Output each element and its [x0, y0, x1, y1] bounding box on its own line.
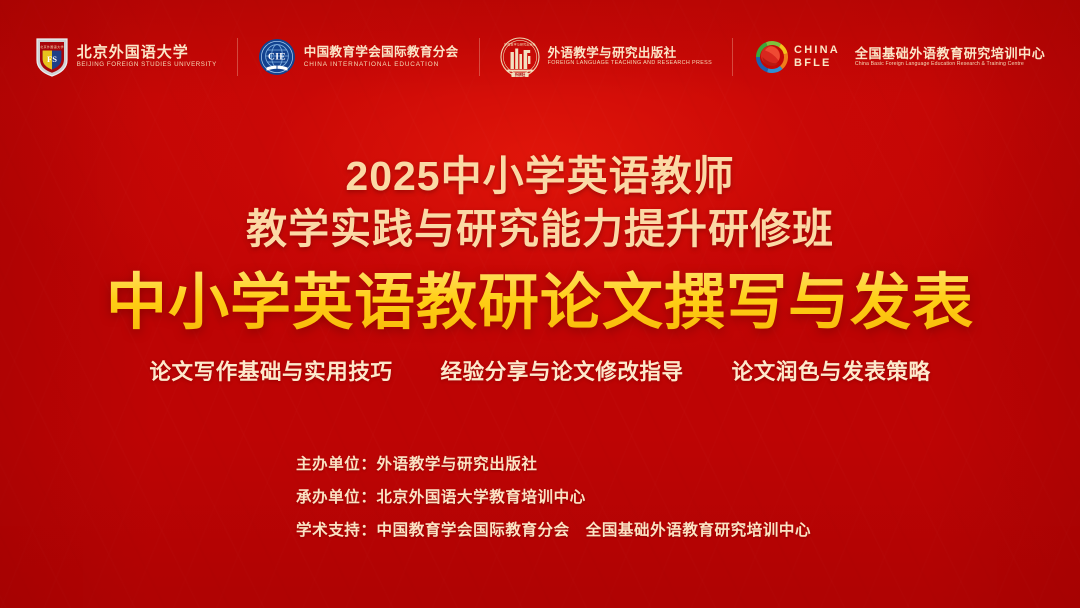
- logo-cie: CIE 中国教育学会国际教育分会 CHINA INTERNATIONAL EDU…: [238, 32, 479, 82]
- organizer-credits: 主办单位：外语教学与研究出版社 承办单位：北京外国语大学教育培训中心 学术支持：…: [296, 452, 811, 540]
- credit-row-academic-support: 学术支持：中国教育学会国际教育分会全国基础外语教育研究培训中心: [296, 518, 811, 540]
- svg-text:外语教学与研究出版社: 外语教学与研究出版社: [504, 41, 536, 46]
- conference-poster: FS 北京外国语大学 北京外国语大学 BEIJING FOREIGN STUDI…: [0, 0, 1080, 608]
- poster-title-block: 2025中小学英语教师 教学实践与研究能力提升研修班 中小学英语教研论文撰写与发…: [0, 150, 1080, 338]
- logo-bfle-abbr: CHINA BFLE: [794, 44, 840, 70]
- logo-bfsu: FS 北京外国语大学 北京外国语大学 BEIJING FOREIGN STUDI…: [15, 32, 237, 82]
- credit-row-host: 承办单位：北京外国语大学教育培训中心: [296, 485, 811, 507]
- topic-list: 论文写作基础与实用技巧 经验分享与论文修改指导 论文润色与发表策略: [0, 355, 1080, 386]
- svg-text:FS: FS: [47, 54, 57, 64]
- credit-value-academic-support-extra: 全国基础外语教育研究培训中心: [586, 522, 811, 539]
- credit-label-host: 承办单位：: [296, 489, 377, 506]
- logo-bfsu-text: 北京外国语大学 BEIJING FOREIGN STUDIES UNIVERSI…: [77, 45, 217, 69]
- logo-fltrp: 外语教学与研究出版社 外研社 外语教学与研究出版社 FOREIGN LANGUA…: [480, 32, 732, 82]
- title-line-1: 2025中小学英语教师: [0, 150, 1080, 202]
- svg-text:外研社: 外研社: [514, 72, 525, 77]
- logo-cie-name-cn: 中国教育学会国际教育分会: [304, 46, 459, 59]
- svg-text:CIE: CIE: [268, 53, 286, 63]
- logo-bfle-name-en: China Basic Foreign Language Education R…: [855, 62, 1045, 68]
- shield-crest-icon: FS 北京外国语大学: [35, 36, 69, 78]
- logo-fltrp-name-en: FOREIGN LANGUAGE TEACHING AND RESEARCH P…: [548, 61, 712, 67]
- globe-book-icon: CIE: [258, 38, 296, 76]
- logo-bfle-name-cn: 全国基础外语教育研究培训中心: [855, 47, 1045, 61]
- title-line-2: 教学实践与研究能力提升研修班: [0, 202, 1080, 256]
- topic-item-1: 论文写作基础与实用技巧: [149, 355, 392, 386]
- logo-bfle-abbr-line1: CHINA: [794, 44, 840, 57]
- rainbow-swirl-icon: [753, 38, 791, 76]
- logo-cie-name-en: CHINA INTERNATIONAL EDUCATION: [304, 61, 459, 68]
- credit-row-organizer: 主办单位：外语教学与研究出版社: [296, 452, 811, 474]
- sponsor-logo-bar: FS 北京外国语大学 北京外国语大学 BEIJING FOREIGN STUDI…: [0, 31, 1080, 83]
- logo-bfle-text: 全国基础外语教育研究培训中心 China Basic Foreign Langu…: [855, 47, 1045, 67]
- credit-label-academic-support: 学术支持：: [296, 522, 377, 539]
- credit-value-organizer: 外语教学与研究出版社: [377, 456, 538, 473]
- logo-cie-text: 中国教育学会国际教育分会 CHINA INTERNATIONAL EDUCATI…: [304, 46, 459, 67]
- credit-value-host: 北京外国语大学教育培训中心: [377, 489, 586, 506]
- logo-bfsu-name-cn: 北京外国语大学: [77, 45, 217, 61]
- svg-text:北京外国语大学: 北京外国语大学: [40, 44, 64, 49]
- credit-label-organizer: 主办单位：: [296, 456, 377, 473]
- press-tower-icon: 外语教学与研究出版社 外研社: [500, 36, 540, 78]
- credit-value-academic-support: 中国教育学会国际教育分会: [377, 522, 570, 539]
- logo-fltrp-text: 外语教学与研究出版社 FOREIGN LANGUAGE TEACHING AND…: [548, 47, 712, 67]
- logo-bfle-abbr-line2: BFLE: [794, 57, 840, 70]
- logo-bfsu-name-en: BEIJING FOREIGN STUDIES UNIVERSITY: [77, 62, 217, 69]
- logo-fltrp-name-cn: 外语教学与研究出版社: [548, 47, 712, 60]
- page-title: 中小学英语教研论文撰写与发表: [0, 266, 1080, 338]
- topic-item-2: 经验分享与论文修改指导: [441, 355, 684, 386]
- logo-bfle: CHINA BFLE 全国基础外语教育研究培训中心 China Basic Fo…: [733, 32, 1065, 82]
- topic-item-3: 论文润色与发表策略: [732, 355, 931, 386]
